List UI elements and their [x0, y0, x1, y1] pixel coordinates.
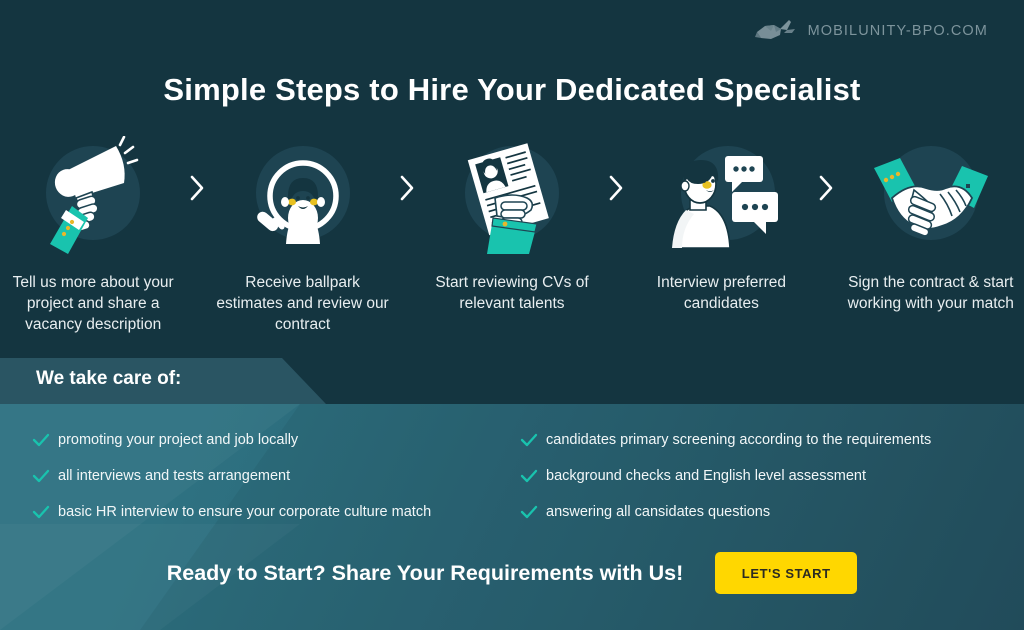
handshake-icon — [870, 136, 992, 254]
check-icon — [520, 505, 546, 519]
check-icon — [32, 433, 58, 447]
list-item-label: answering all cansidates questions — [546, 504, 770, 520]
check-icon — [32, 469, 58, 483]
list-item: candidates primary screening according t… — [520, 422, 1000, 457]
list-item: background checks and English level asse… — [520, 458, 1000, 493]
megaphone-icon — [32, 136, 154, 254]
check-icon — [520, 469, 546, 483]
chevron-right-icon-4 — [815, 174, 838, 202]
step-4: Interview preferred candidates — [628, 136, 814, 314]
list-item-label: candidates primary screening according t… — [546, 432, 931, 448]
services-checklist: promoting your project and job locally a… — [0, 422, 1024, 530]
checklist-left-column: promoting your project and job locally a… — [0, 422, 512, 530]
chevron-right-icon-2 — [396, 174, 419, 202]
brand-name: MOBILUNITY-BPO.COM — [808, 23, 988, 39]
list-item: basic HR interview to ensure your corpor… — [32, 494, 512, 529]
step-1: Tell us more about your project and shar… — [0, 136, 186, 335]
services-heading: We take care of: — [36, 368, 181, 390]
whale-icon — [754, 18, 798, 44]
step-3-label: Start reviewing CVs of relevant talents — [422, 272, 602, 314]
list-item-label: basic HR interview to ensure your corpor… — [58, 504, 431, 520]
chevron-right-icon-3 — [605, 174, 628, 202]
magnifier-person-icon — [242, 136, 364, 254]
infographic-root: MOBILUNITY-BPO.COM Simple Steps to Hire … — [0, 0, 1024, 630]
step-1-label: Tell us more about your project and shar… — [3, 272, 183, 335]
list-item-label: all interviews and tests arrangement — [58, 468, 290, 484]
brand-logo[interactable]: MOBILUNITY-BPO.COM — [754, 18, 988, 44]
step-3: Start reviewing CVs of relevant talents — [419, 136, 605, 314]
list-item: answering all cansidates questions — [520, 494, 1000, 529]
cta-headline: Ready to Start? Share Your Requirements … — [167, 561, 684, 586]
list-item-label: background checks and English level asse… — [546, 468, 866, 484]
cv-document-hand-icon — [451, 136, 573, 254]
list-item-label: promoting your project and job locally — [58, 432, 298, 448]
step-2: Receive ballpark estimates and review ou… — [209, 136, 395, 335]
chevron-right-icon-1 — [186, 174, 209, 202]
lets-start-button[interactable]: LET'S START — [715, 552, 857, 594]
step-5-label: Sign the contract & start working with y… — [841, 272, 1021, 314]
person-chat-bubbles-icon — [660, 136, 782, 254]
step-4-label: Interview preferred candidates — [631, 272, 811, 314]
step-2-label: Receive ballpark estimates and review ou… — [213, 272, 393, 335]
page-title: Simple Steps to Hire Your Dedicated Spec… — [0, 72, 1024, 108]
list-item: promoting your project and job locally — [32, 422, 512, 457]
check-icon — [32, 505, 58, 519]
list-item: all interviews and tests arrangement — [32, 458, 512, 493]
steps-row: Tell us more about your project and shar… — [0, 136, 1024, 335]
cta-section: Ready to Start? Share Your Requirements … — [0, 552, 1024, 594]
step-5: Sign the contract & start working with y… — [838, 136, 1024, 314]
checklist-right-column: candidates primary screening according t… — [512, 422, 1000, 530]
check-icon — [520, 433, 546, 447]
